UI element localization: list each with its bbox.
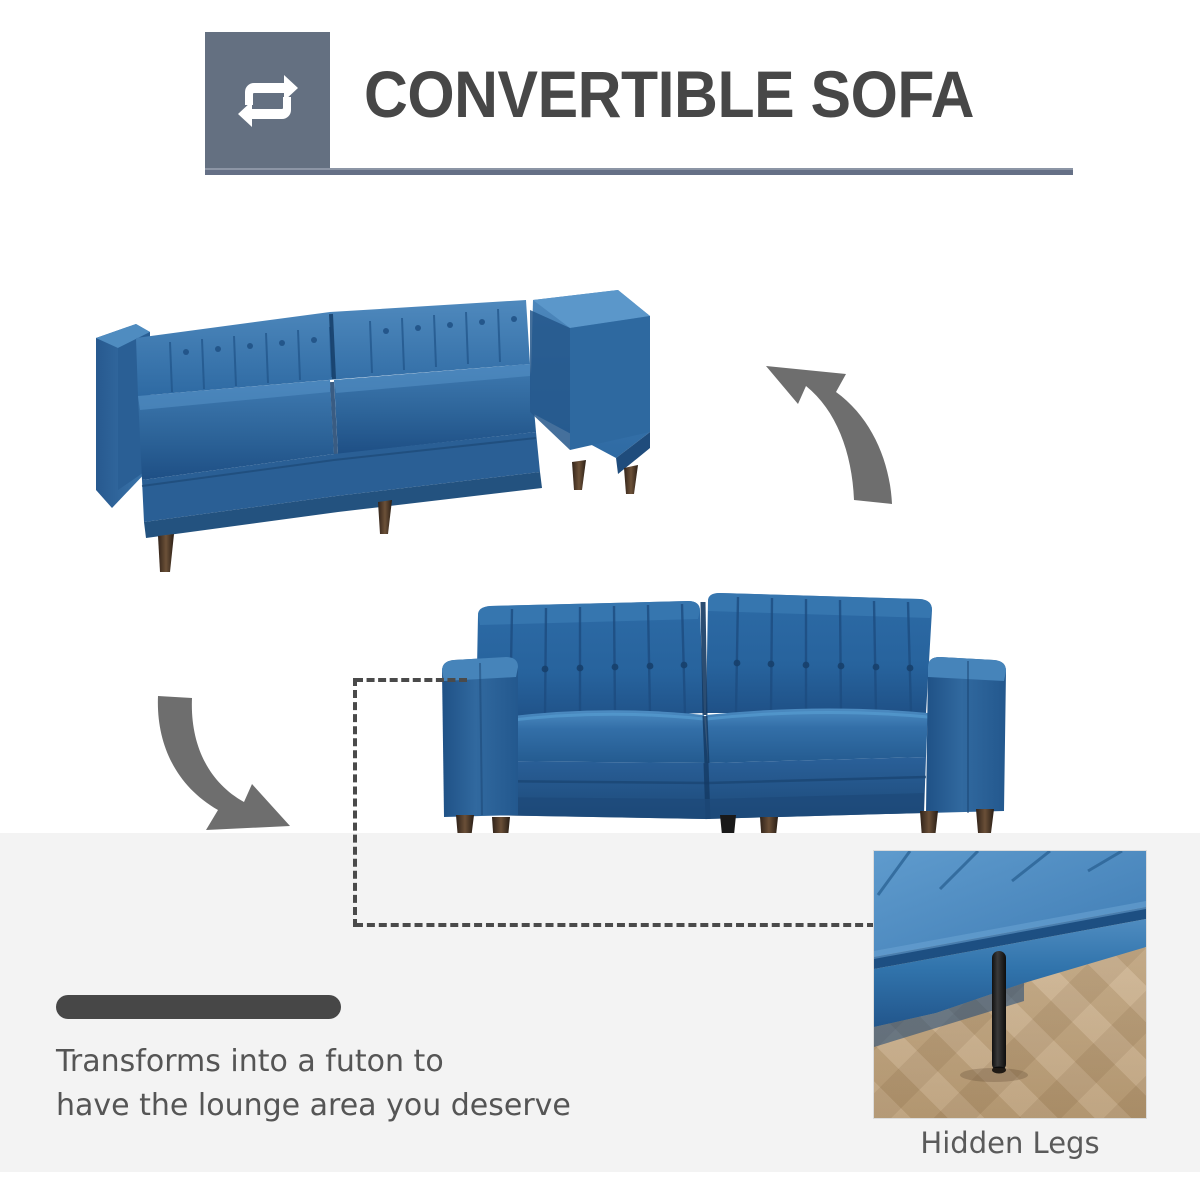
page-title: CONVERTIBLE SOFA [364, 56, 974, 132]
inset-caption: Hidden Legs [874, 1126, 1146, 1160]
callout-dashed-bottom [355, 923, 875, 927]
feature-caption-line-2: have the lounge area you deserve [56, 1084, 676, 1128]
repeat-loop-icon [232, 70, 304, 132]
feature-caption-line-1: Transforms into a futon to [56, 1040, 676, 1084]
feature-caption: Transforms into a futon to have the loun… [56, 1040, 676, 1128]
arrow-fold-up-icon [132, 688, 312, 840]
header-rule [205, 170, 1073, 175]
infographic-canvas: CONVERTIBLE SOFA [0, 0, 1200, 1200]
feature-divider-pill [56, 995, 341, 1019]
inset-sofa-corner [874, 851, 1146, 1118]
hidden-legs-inset-image [874, 851, 1146, 1118]
arrow-fold-down-icon [740, 352, 940, 512]
sofa-image-flat-futon [78, 272, 698, 572]
callout-dashed-left [353, 678, 357, 927]
callout-dashed-top [355, 678, 467, 682]
